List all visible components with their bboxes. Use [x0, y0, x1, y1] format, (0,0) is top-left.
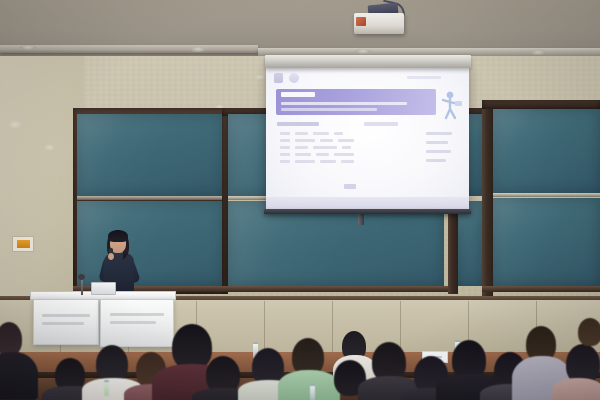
presentation-slide: [266, 66, 469, 211]
projection-screen-weight-bar: [264, 209, 471, 214]
blackboard-panel-left-upper: [77, 114, 224, 196]
blackboard-panel-far-right-lower: [493, 198, 600, 286]
lecture-hall-photo: [0, 0, 600, 400]
slide-illustration-figure: [439, 90, 463, 120]
slide-section-heading-left: [277, 122, 319, 126]
audience-head: [0, 322, 22, 356]
projection-screen-pole: [358, 213, 364, 225]
projection-screen-case: [265, 55, 471, 68]
speaker-hand: [108, 253, 114, 260]
projector-lens: [356, 17, 366, 26]
speaker-hair-top: [108, 230, 128, 242]
audience-shoulders: [552, 378, 600, 400]
podium-left-unit[interactable]: [33, 299, 99, 345]
slide-title-text: [281, 92, 315, 97]
wall-sign: [12, 236, 34, 252]
blackboard-rail-far-right: [493, 193, 600, 197]
blackboard-tray-center: [222, 286, 448, 292]
audience-head: [578, 318, 600, 346]
slide-logo-icon: [274, 73, 283, 83]
water-bottle[interactable]: [310, 384, 315, 400]
wall-scuff: [255, 74, 265, 80]
wall-sign-marking: [17, 240, 30, 248]
slide-subtitle-text: [281, 102, 407, 105]
recessed-light-icon: [355, 49, 371, 54]
wall-scuff: [8, 120, 22, 129]
slide-top-label: [407, 76, 441, 79]
ceiling-rail-left: [0, 45, 258, 53]
blackboard-panel-far-right-upper: [493, 109, 600, 193]
slide-data-table: [280, 132, 456, 167]
projection-screen: [266, 66, 469, 211]
slide-top-icons: [274, 73, 299, 83]
slide-footer-label: [344, 184, 356, 189]
wall-scuff: [44, 144, 55, 151]
recessed-light-icon: [530, 50, 546, 55]
recessed-light-icon: [190, 47, 206, 52]
podium-microphone-stand: [81, 278, 83, 295]
audience-shoulders: [0, 352, 38, 400]
wainscot-seam: [332, 301, 333, 355]
recessed-light-icon: [20, 45, 36, 50]
blackboard-tray-far-right: [482, 286, 600, 292]
podium-right-unit[interactable]: [100, 299, 174, 347]
water-bottle[interactable]: [104, 380, 109, 396]
laptop-icon[interactable]: [91, 282, 116, 295]
slide-subtitle-text-2: [281, 108, 377, 111]
blackboard-header-far-right: [482, 100, 600, 109]
wainscot-seam: [264, 301, 265, 355]
blackboard-rail-left: [77, 196, 224, 200]
blackboard-post-far-right: [482, 104, 493, 296]
slide-section-heading-right: [364, 122, 398, 126]
slide-table-right-column: [426, 132, 456, 168]
podium-microphone-icon: [78, 274, 85, 280]
slide-title-banner: [276, 89, 436, 115]
slide-badge-icon: [289, 73, 299, 83]
audience-shoulders: [278, 370, 340, 400]
